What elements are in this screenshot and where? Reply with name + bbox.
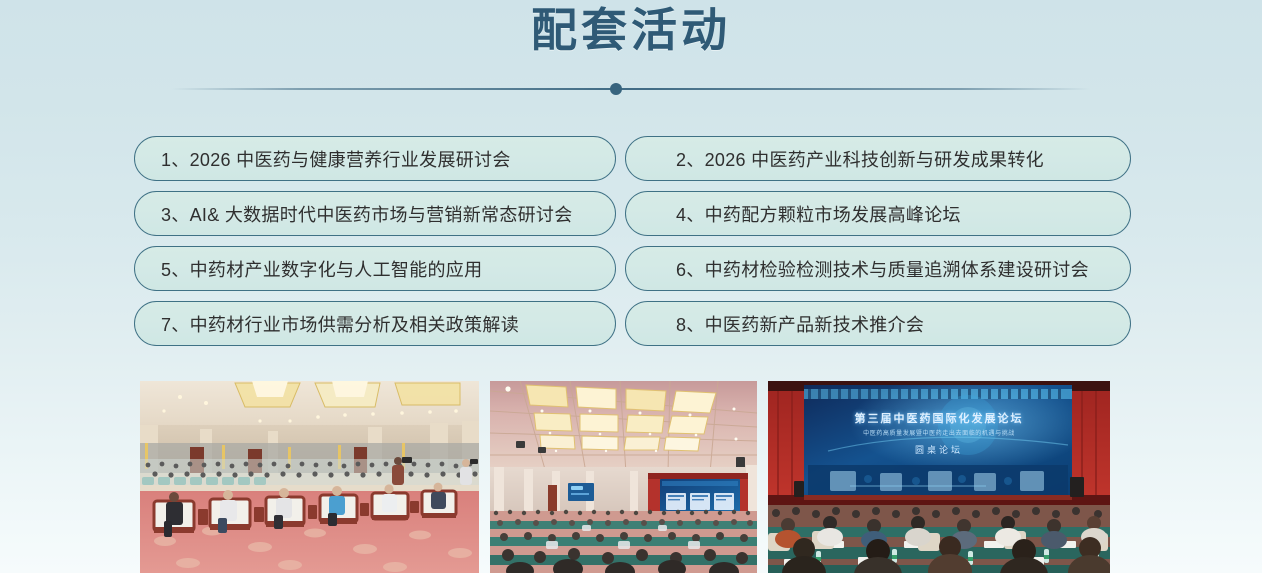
title-divider (172, 80, 1090, 98)
conference-hall-image (140, 381, 479, 573)
page-title: 配套活动 (0, 2, 1262, 60)
gallery-photo-3[interactable]: 第三届中医药国际化发展论坛 中医药高质量发展暨中医药走出去面临的机遇与挑战 圆桌… (768, 381, 1110, 573)
forum-stage-image (768, 381, 1110, 573)
agenda-item-5[interactable]: 5、中药材产业数字化与人工智能的应用 (134, 246, 616, 291)
agenda-item-1[interactable]: 1、2026 中医药与健康营养行业发展研讨会 (134, 136, 616, 181)
gallery-photo-1[interactable] (140, 381, 479, 573)
agenda-item-6[interactable]: 6、中药材检验检测技术与质量追溯体系建设研讨会 (625, 246, 1131, 291)
agenda-item-label: 2、2026 中医药产业科技创新与研发成果转化 (676, 146, 1044, 172)
agenda-item-label: 5、中药材产业数字化与人工智能的应用 (161, 256, 482, 282)
agenda-list: 1、2026 中医药与健康营养行业发展研讨会 2、2026 中医药产业科技创新与… (134, 136, 1131, 346)
agenda-item-label: 6、中药材检验检测技术与质量追溯体系建设研讨会 (676, 256, 1089, 282)
agenda-item-8[interactable]: 8、中医药新产品新技术推介会 (625, 301, 1131, 346)
agenda-item-label: 8、中医药新产品新技术推介会 (676, 311, 924, 337)
agenda-item-label: 1、2026 中医药与健康营养行业发展研讨会 (161, 146, 511, 172)
divider-line (172, 88, 1090, 90)
agenda-item-2[interactable]: 2、2026 中医药产业科技创新与研发成果转化 (625, 136, 1131, 181)
auditorium-image (490, 381, 757, 573)
gallery-photo-2[interactable] (490, 381, 757, 573)
agenda-item-label: 3、AI& 大数据时代中医药市场与营销新常态研讨会 (161, 201, 573, 227)
agenda-item-label: 7、中药材行业市场供需分析及相关政策解读 (161, 311, 519, 337)
agenda-item-7[interactable]: 7、中药材行业市场供需分析及相关政策解读 (134, 301, 616, 346)
divider-dot-icon (610, 83, 622, 95)
agenda-item-3[interactable]: 3、AI& 大数据时代中医药市场与营销新常态研讨会 (134, 191, 616, 236)
agenda-item-label: 4、中药配方颗粒市场发展高峰论坛 (676, 201, 961, 227)
activities-section: 配套活动 1、2026 中医药与健康营养行业发展研讨会 2、2026 中医药产业… (0, 0, 1262, 573)
photo-gallery: 第三届中医药国际化发展论坛 中医药高质量发展暨中医药走出去面临的机遇与挑战 圆桌… (140, 381, 1110, 573)
agenda-item-4[interactable]: 4、中药配方颗粒市场发展高峰论坛 (625, 191, 1131, 236)
